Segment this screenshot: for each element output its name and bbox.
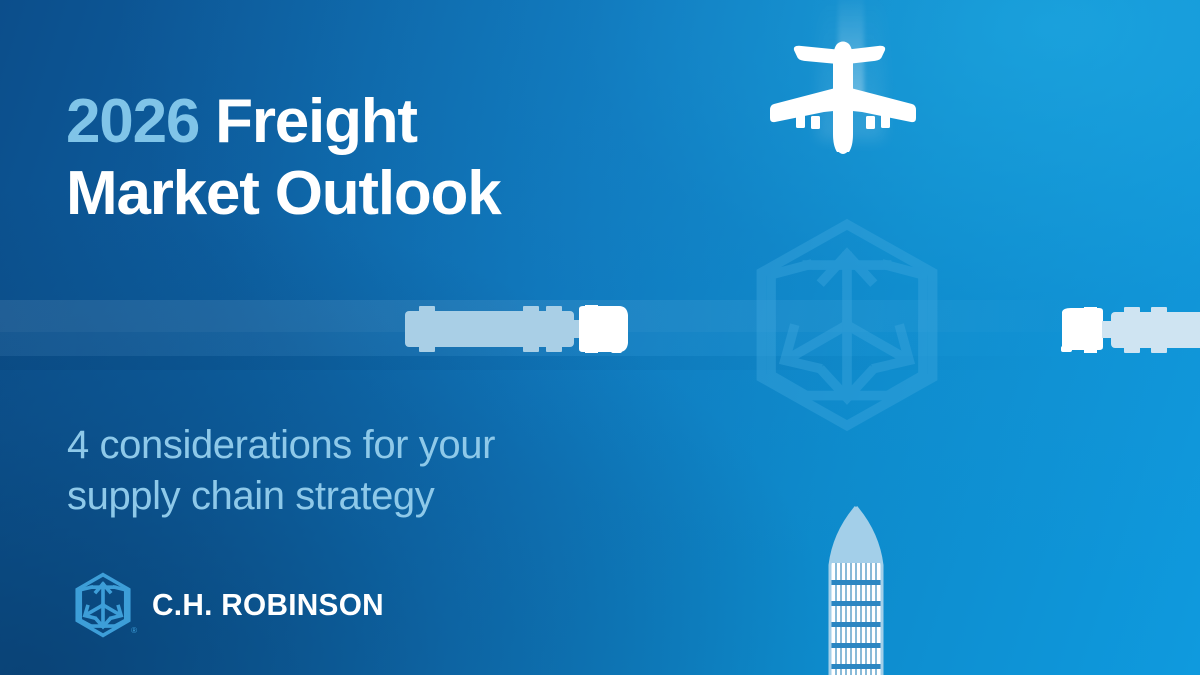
headline-year: 2026 <box>66 87 199 156</box>
page-title: 2026 Freight Market Outlook <box>66 86 501 230</box>
brand-wordmark: C.H. ROBINSON <box>152 587 384 623</box>
cube-watermark-icon <box>740 218 954 432</box>
truck-icon-left <box>405 305 630 353</box>
page-subtitle: 4 considerations for your supply chain s… <box>67 420 495 522</box>
ch-robinson-cube-icon: ® <box>70 572 136 638</box>
subtitle-line-2: supply chain strategy <box>67 474 434 518</box>
headline-word-freight: Freight <box>215 87 417 156</box>
brand-logo: ® C.H. ROBINSON <box>70 572 394 638</box>
freight-outlook-banner: 2026 Freight Market Outlook 4 considerat… <box>0 0 1200 675</box>
headline-line-2: Market Outlook <box>66 159 501 228</box>
subtitle-line-1: 4 considerations for your <box>67 423 495 467</box>
truck-icon-right <box>1058 307 1200 353</box>
cargo-ship-icon <box>800 505 912 675</box>
airplane-icon <box>770 38 916 156</box>
registered-trademark-mark: ® <box>131 627 137 635</box>
motion-lane-graphic-shadow <box>0 356 1200 370</box>
